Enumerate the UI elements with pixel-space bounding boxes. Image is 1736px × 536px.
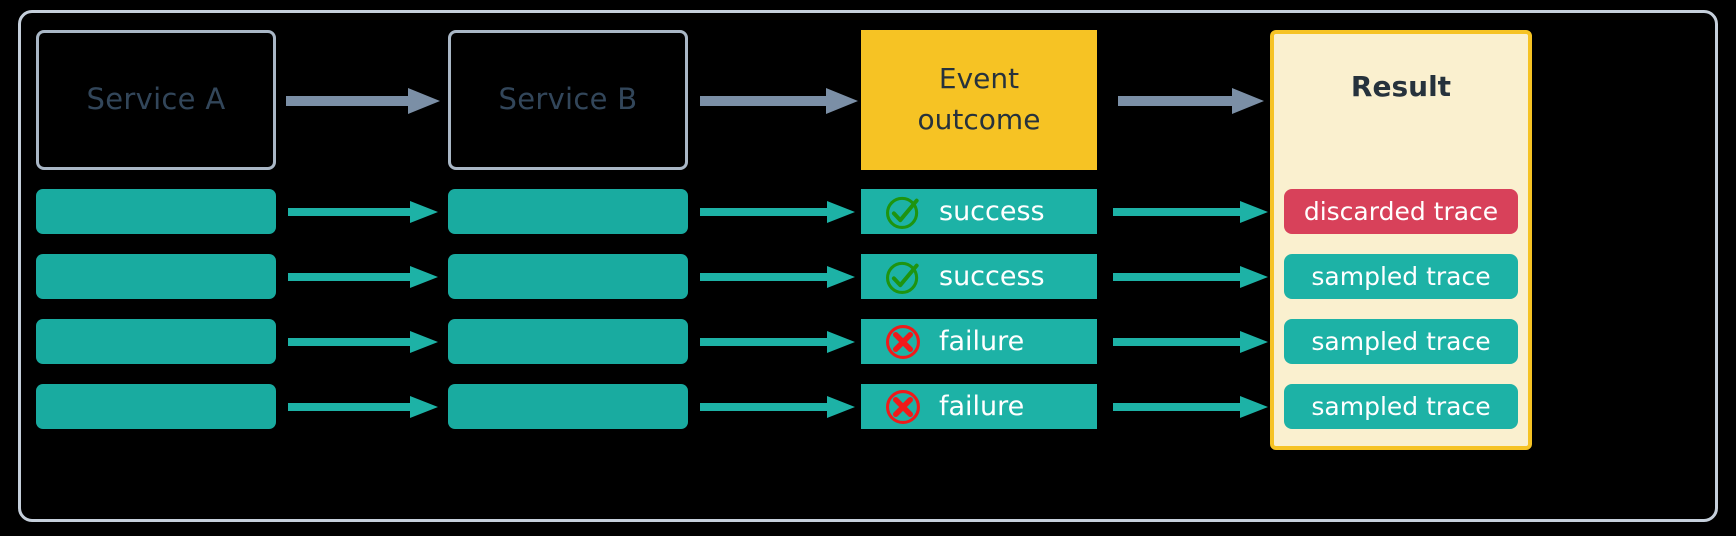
row-arrow-b-to-outcome-row-4 [700, 396, 855, 418]
row-arrow-outcome-to-result-row-2 [1113, 266, 1268, 288]
outcome-label-row-3: failure [939, 326, 1024, 357]
header-arrow-b-to-outcome [700, 88, 858, 114]
result-chip-label-row-1: discarded trace [1304, 197, 1498, 226]
diagram-canvas: Service A Service B Event outcome Result [0, 0, 1736, 536]
row-arrow-b-to-outcome-row-2 [700, 266, 855, 288]
outcome-badge-row-3: failure [861, 319, 1097, 364]
outcome-label-row-1: success [939, 196, 1045, 227]
result-title: Result [1274, 70, 1528, 103]
event-outcome-label-line2: outcome [918, 100, 1041, 141]
result-chip-label-row-3: sampled trace [1311, 327, 1490, 356]
service-a-label: Service A [87, 83, 226, 116]
result-chip-label-row-2: sampled trace [1311, 262, 1490, 291]
x-circle-icon [883, 322, 923, 362]
outcome-label-row-4: failure [939, 391, 1024, 422]
row-arrow-a-to-b-row-3 [288, 331, 438, 353]
span-bar-service-a-row-4 [36, 384, 276, 429]
span-bar-service-a-row-1 [36, 189, 276, 234]
check-circle-icon [883, 192, 923, 232]
row-arrow-outcome-to-result-row-3 [1113, 331, 1268, 353]
row-arrow-outcome-to-result-row-4 [1113, 396, 1268, 418]
span-bar-service-b-row-1 [448, 189, 688, 234]
x-circle-icon [883, 387, 923, 427]
column-header-service-a: Service A [36, 30, 276, 170]
column-header-service-b: Service B [448, 30, 688, 170]
check-circle-icon [883, 257, 923, 297]
span-bar-service-b-row-4 [448, 384, 688, 429]
span-bar-service-b-row-3 [448, 319, 688, 364]
row-arrow-a-to-b-row-1 [288, 201, 438, 223]
result-chip-label-row-4: sampled trace [1311, 392, 1490, 421]
result-chip-row-2: sampled trace [1284, 254, 1518, 299]
span-bar-service-b-row-2 [448, 254, 688, 299]
outcome-badge-row-4: failure [861, 384, 1097, 429]
span-bar-service-a-row-2 [36, 254, 276, 299]
service-b-label: Service B [499, 83, 638, 116]
span-bar-service-a-row-3 [36, 319, 276, 364]
event-outcome-label-line1: Event [918, 59, 1041, 100]
header-arrow-outcome-to-result [1118, 88, 1264, 114]
outcome-label-row-2: success [939, 261, 1045, 292]
result-chip-row-1: discarded trace [1284, 189, 1518, 234]
result-chip-row-3: sampled trace [1284, 319, 1518, 364]
row-arrow-b-to-outcome-row-1 [700, 201, 855, 223]
row-arrow-outcome-to-result-row-1 [1113, 201, 1268, 223]
header-arrow-a-to-b [286, 88, 440, 114]
result-chip-row-4: sampled trace [1284, 384, 1518, 429]
outcome-badge-row-1: success [861, 189, 1097, 234]
event-outcome-label: Event outcome [918, 59, 1041, 140]
row-arrow-a-to-b-row-4 [288, 396, 438, 418]
column-header-event-outcome: Event outcome [861, 30, 1097, 170]
row-arrow-a-to-b-row-2 [288, 266, 438, 288]
row-arrow-b-to-outcome-row-3 [700, 331, 855, 353]
outcome-badge-row-2: success [861, 254, 1097, 299]
